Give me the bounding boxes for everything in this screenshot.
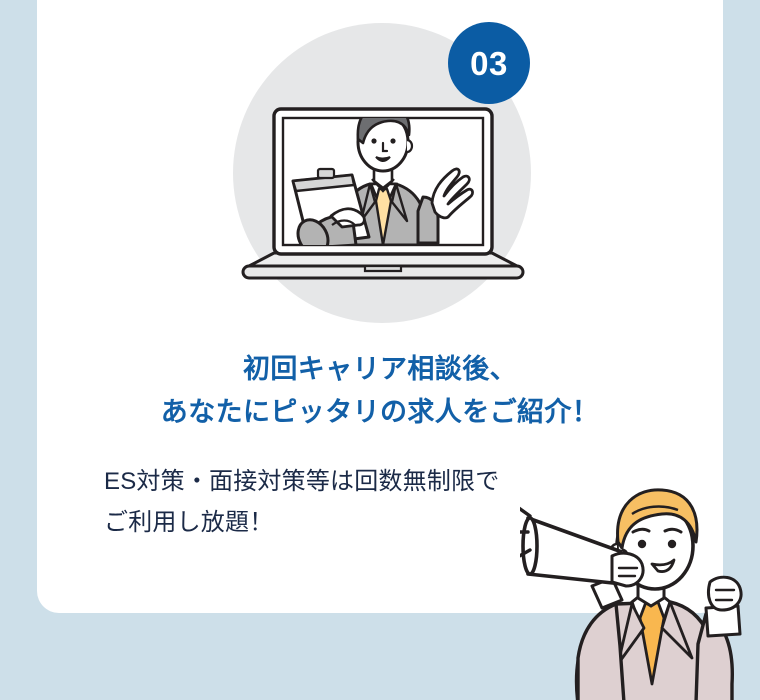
headline-line-1: 初回キャリア相談後、 <box>243 354 517 384</box>
step-number-badge: 03 <box>448 22 530 104</box>
headline-line-2: あなたにピッタリの求人をご紹介！ <box>37 391 723 434</box>
headline: 初回キャリア相談後、 あなたにピッタリの求人をご紹介！ <box>37 348 723 433</box>
laptop-online-consultation-icon <box>236 85 530 290</box>
businessman-with-megaphone-icon <box>520 478 760 700</box>
illustration-area <box>0 0 760 340</box>
promo-step-card: 03 初回キャリア相談後、 あなたにピッタリの求人をご紹介！ ES対策・面接対策… <box>0 0 760 700</box>
body-copy-line-1: ES対策・面接対策等は回数無制限で <box>104 468 499 495</box>
step-number-label: 03 <box>470 47 508 80</box>
